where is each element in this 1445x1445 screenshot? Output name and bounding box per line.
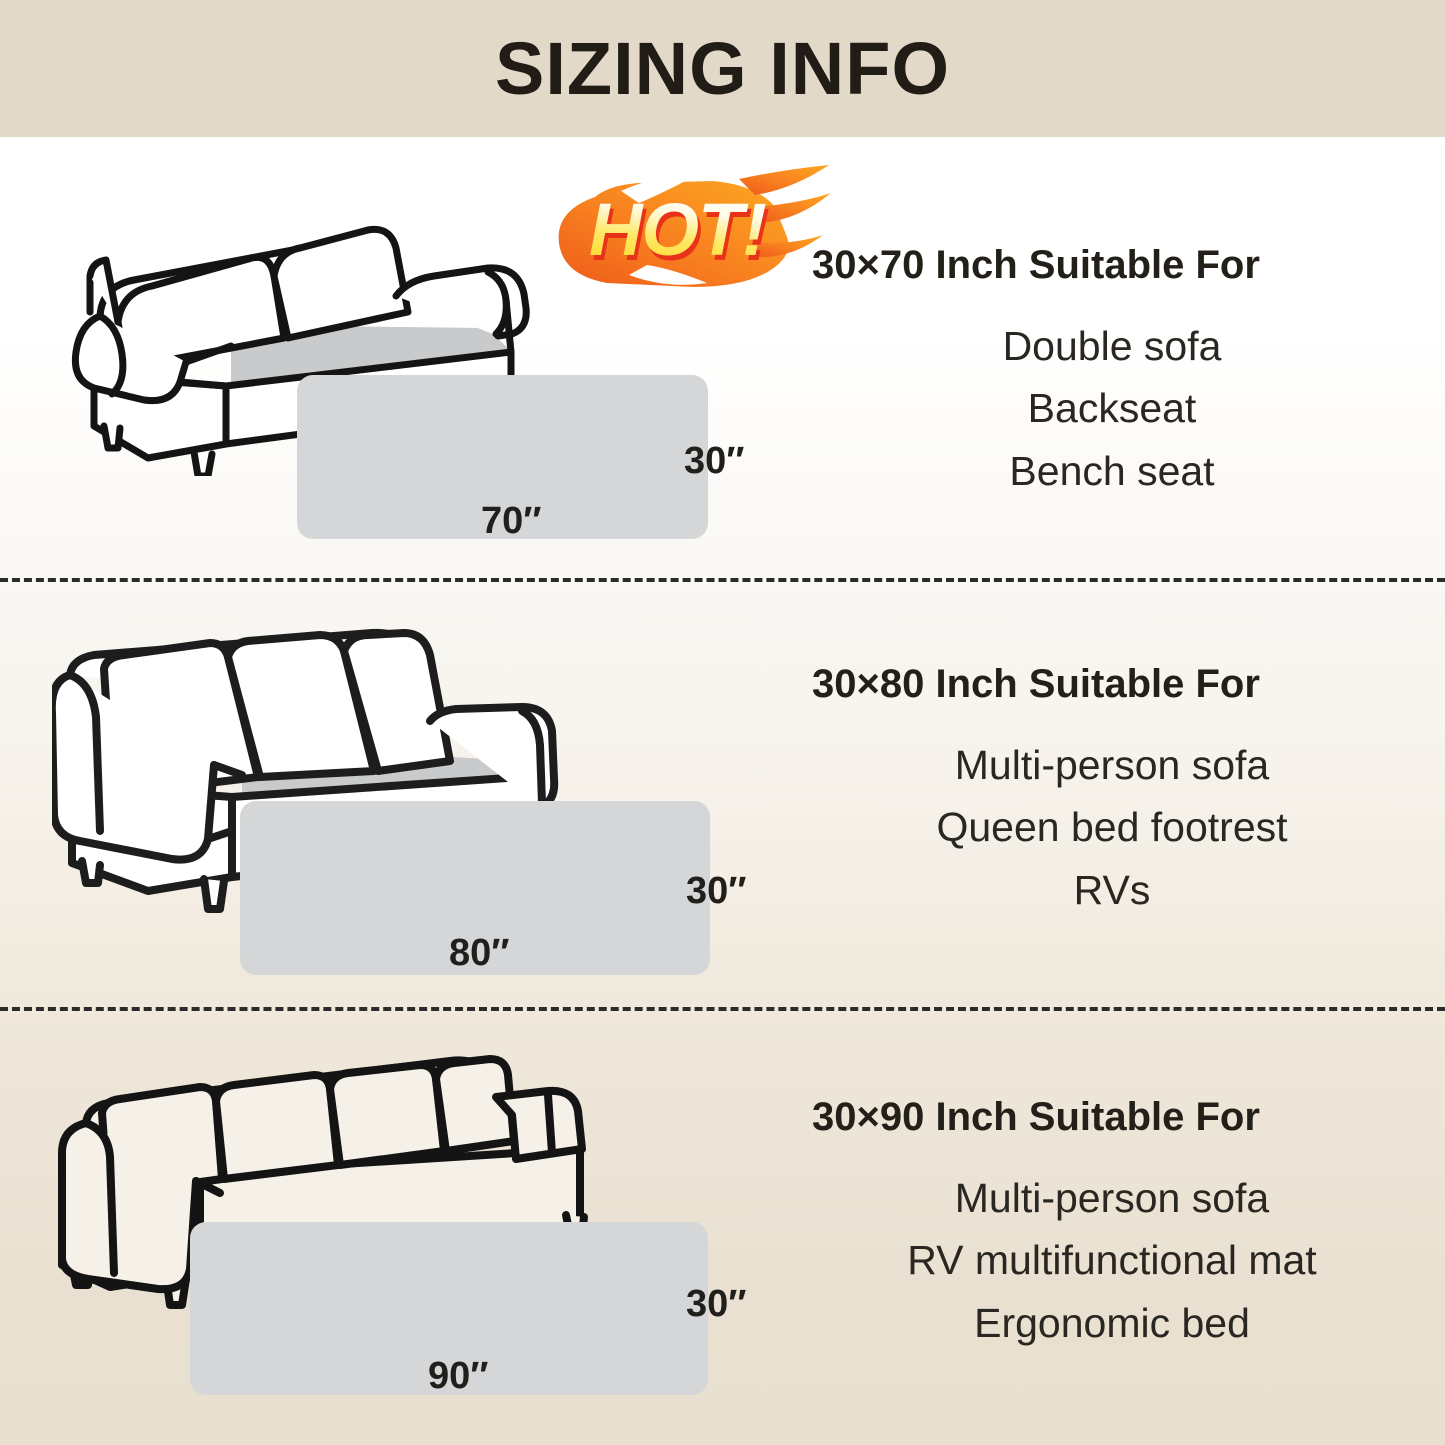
header-band: SIZING INFO xyxy=(0,0,1445,137)
use-item: Queen bed footrest xyxy=(812,796,1412,858)
use-item: RV multifunctional mat xyxy=(812,1229,1412,1291)
mat-width-label-80: 80″ xyxy=(449,932,509,975)
sizing-info-infographic: SIZING INFO xyxy=(0,0,1445,1445)
section-1-text: 30×70 Inch Suitable For Double sofa Back… xyxy=(812,243,1445,502)
hot-badge: HOT! HOT! xyxy=(543,163,833,303)
use-item: Backseat xyxy=(812,377,1412,439)
section-3-uses: Multi-person sofa RV multifunctional mat… xyxy=(812,1167,1412,1354)
section-2-title: 30×80 Inch Suitable For xyxy=(812,662,1445,706)
mat-height-label-30: 30″ xyxy=(684,440,744,483)
use-item: Ergonomic bed xyxy=(812,1292,1412,1354)
mat-width-label-90: 90″ xyxy=(428,1355,488,1398)
mat-height-label-30: 30″ xyxy=(686,1283,746,1326)
section-divider-2 xyxy=(0,1007,1445,1011)
section-1-uses: Double sofa Backseat Bench seat xyxy=(812,315,1412,502)
section-2-text: 30×80 Inch Suitable For Multi-person sof… xyxy=(812,662,1445,921)
section-2-uses: Multi-person sofa Queen bed footrest RVs xyxy=(812,734,1412,921)
page-title: SIZING INFO xyxy=(495,32,950,106)
use-item: RVs xyxy=(812,859,1412,921)
use-item: Multi-person sofa xyxy=(812,734,1412,796)
hot-badge-label: HOT! xyxy=(589,188,766,271)
mat-width-label-70: 70″ xyxy=(481,500,541,543)
section-divider-1 xyxy=(0,578,1445,582)
section-1-title: 30×70 Inch Suitable For xyxy=(812,243,1445,287)
section-3-text: 30×90 Inch Suitable For Multi-person sof… xyxy=(812,1095,1445,1354)
section-3-title: 30×90 Inch Suitable For xyxy=(812,1095,1445,1139)
use-item: Bench seat xyxy=(812,440,1412,502)
mat-height-label-30: 30″ xyxy=(686,870,746,913)
use-item: Multi-person sofa xyxy=(812,1167,1412,1229)
use-item: Double sofa xyxy=(812,315,1412,377)
